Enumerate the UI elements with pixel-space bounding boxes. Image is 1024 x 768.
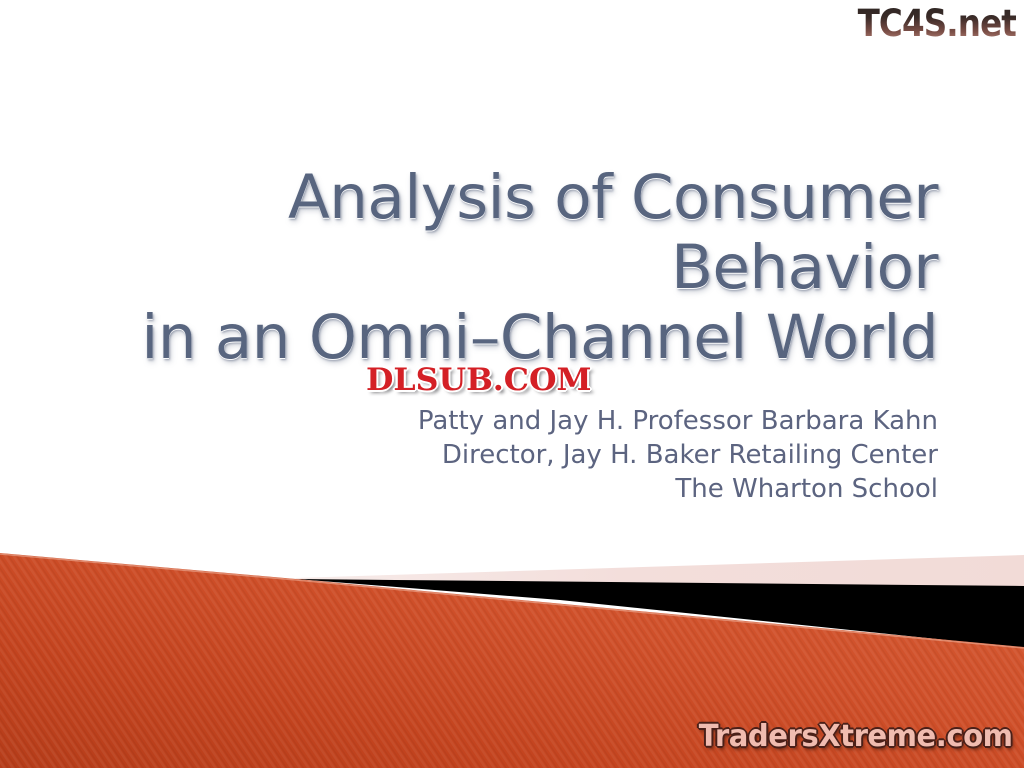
subtitle-author: Patty and Jay H. Professor Barbara Kahn [60,404,938,438]
black-wedge [296,579,1024,648]
presentation-title-slide: Analysis of Consumer Behavior in an Omni… [0,0,1024,768]
watermark-tc4s: TC4S.net [858,2,1016,46]
subtitle-institution: The Wharton School [60,472,938,506]
subtitle-role: Director, Jay H. Baker Retailing Center [60,438,938,472]
title-line-2: Behavior [60,233,938,303]
page-title: Analysis of Consumer Behavior in an Omni… [60,163,938,373]
title-line-1: Analysis of Consumer [60,163,938,233]
pink-wedge [295,555,1024,587]
orange-top-highlight [0,554,1024,648]
watermark-dlsub: DLSUB.COM [366,360,592,400]
subtitle-block: Patty and Jay H. Professor Barbara Kahn … [60,404,938,506]
watermark-tradersxtreme: TradersXtreme.com [698,718,1012,756]
